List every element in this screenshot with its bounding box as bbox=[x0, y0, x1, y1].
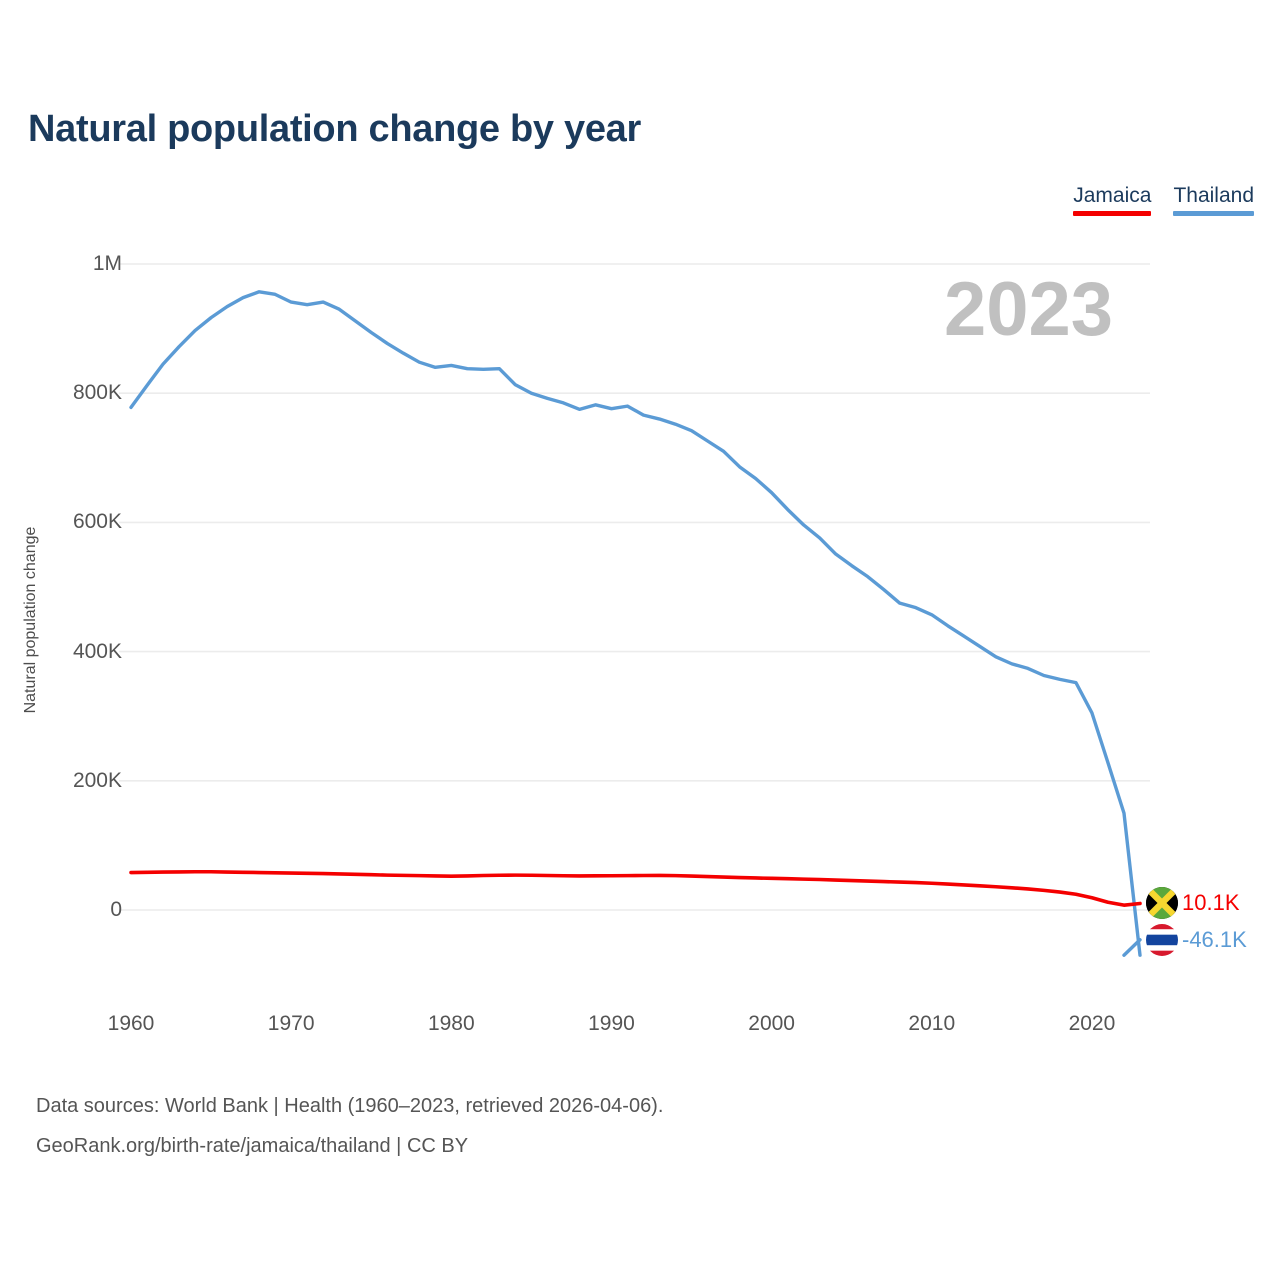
gridlines bbox=[119, 264, 1150, 910]
endpoint-value-thailand: -46.1K bbox=[1182, 927, 1247, 953]
footer-line-attribution: GeoRank.org/birth-rate/jamaica/thailand … bbox=[36, 1126, 663, 1166]
endpoint-jamaica: 10.1K bbox=[1146, 887, 1240, 919]
thailand-flag-icon bbox=[1146, 924, 1178, 956]
jamaica-flag-icon bbox=[1146, 887, 1178, 919]
x-tick-label: 1980 bbox=[428, 1012, 475, 1036]
x-tick-label: 1960 bbox=[108, 1012, 155, 1036]
y-tick-label: 800K bbox=[73, 381, 122, 405]
endpoint-value-jamaica: 10.1K bbox=[1182, 890, 1240, 916]
y-tick-label: 600K bbox=[73, 510, 122, 534]
y-tick-label: 200K bbox=[73, 769, 122, 793]
series-line-thailand bbox=[131, 292, 1140, 955]
footer: Data sources: World Bank | Health (1960–… bbox=[36, 1086, 663, 1166]
series-lines bbox=[131, 292, 1140, 955]
x-tick-label: 1990 bbox=[588, 1012, 635, 1036]
x-tick-label: 1970 bbox=[268, 1012, 315, 1036]
y-tick-label: 400K bbox=[73, 640, 122, 664]
y-tick-label: 0 bbox=[110, 898, 122, 922]
x-tick-label: 2020 bbox=[1069, 1012, 1116, 1036]
series-line-jamaica bbox=[131, 872, 1140, 905]
chart-root: Natural population change by year Jamaic… bbox=[0, 0, 1280, 1280]
endpoint-thailand: -46.1K bbox=[1146, 924, 1247, 956]
x-tick-label: 2000 bbox=[748, 1012, 795, 1036]
footer-line-sources: Data sources: World Bank | Health (1960–… bbox=[36, 1086, 663, 1126]
x-tick-label: 2010 bbox=[908, 1012, 955, 1036]
y-tick-label: 1M bbox=[93, 252, 122, 276]
